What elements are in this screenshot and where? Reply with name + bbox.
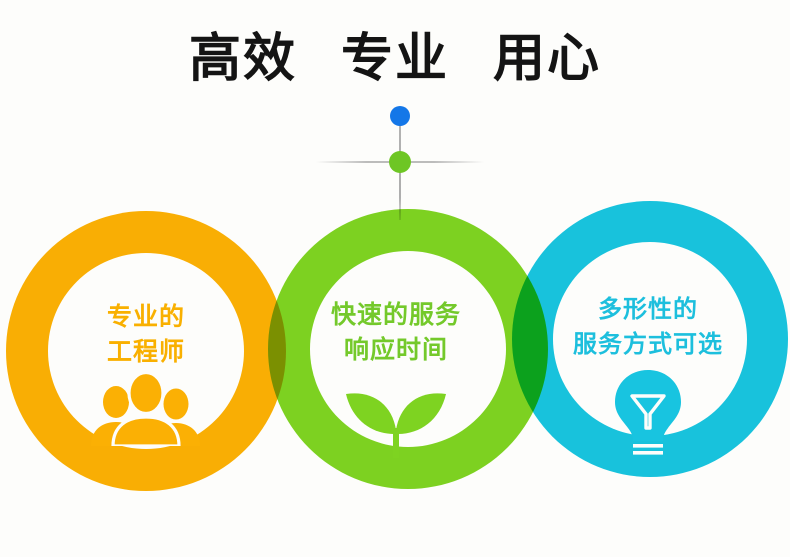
- feature-label-line-1: 专业的: [26, 300, 266, 335]
- infographic-canvas: 高效专业用心 专业的 工程师 快速的服务 响应时间: [0, 0, 790, 557]
- feature-card-service-options: 多形性的 服务方式可选: [528, 292, 768, 458]
- headline-word-2: 专业: [341, 28, 449, 90]
- feature-card-engineers: 专业的 工程师: [26, 300, 266, 446]
- lightbulb-icon: [602, 366, 694, 458]
- feature-label-line-2: 服务方式可选: [528, 327, 768, 362]
- connector-ornament: [270, 100, 530, 220]
- headline-word-1: 高效: [189, 28, 297, 90]
- green-dot-icon: [389, 151, 411, 173]
- feature-label-line-1: 多形性的: [528, 292, 768, 327]
- page-title: 高效专业用心: [0, 28, 790, 90]
- feature-label-line-2: 工程师: [26, 335, 266, 370]
- sprout-leaf-icon: [332, 372, 460, 458]
- blue-dot-icon: [390, 106, 410, 126]
- feature-card-response-time: 快速的服务 响应时间: [276, 298, 516, 458]
- feature-label-line-1: 快速的服务: [276, 298, 516, 333]
- headline-word-3: 用心: [493, 28, 601, 90]
- feature-label-line-2: 响应时间: [276, 333, 516, 368]
- people-group-icon: [87, 374, 205, 446]
